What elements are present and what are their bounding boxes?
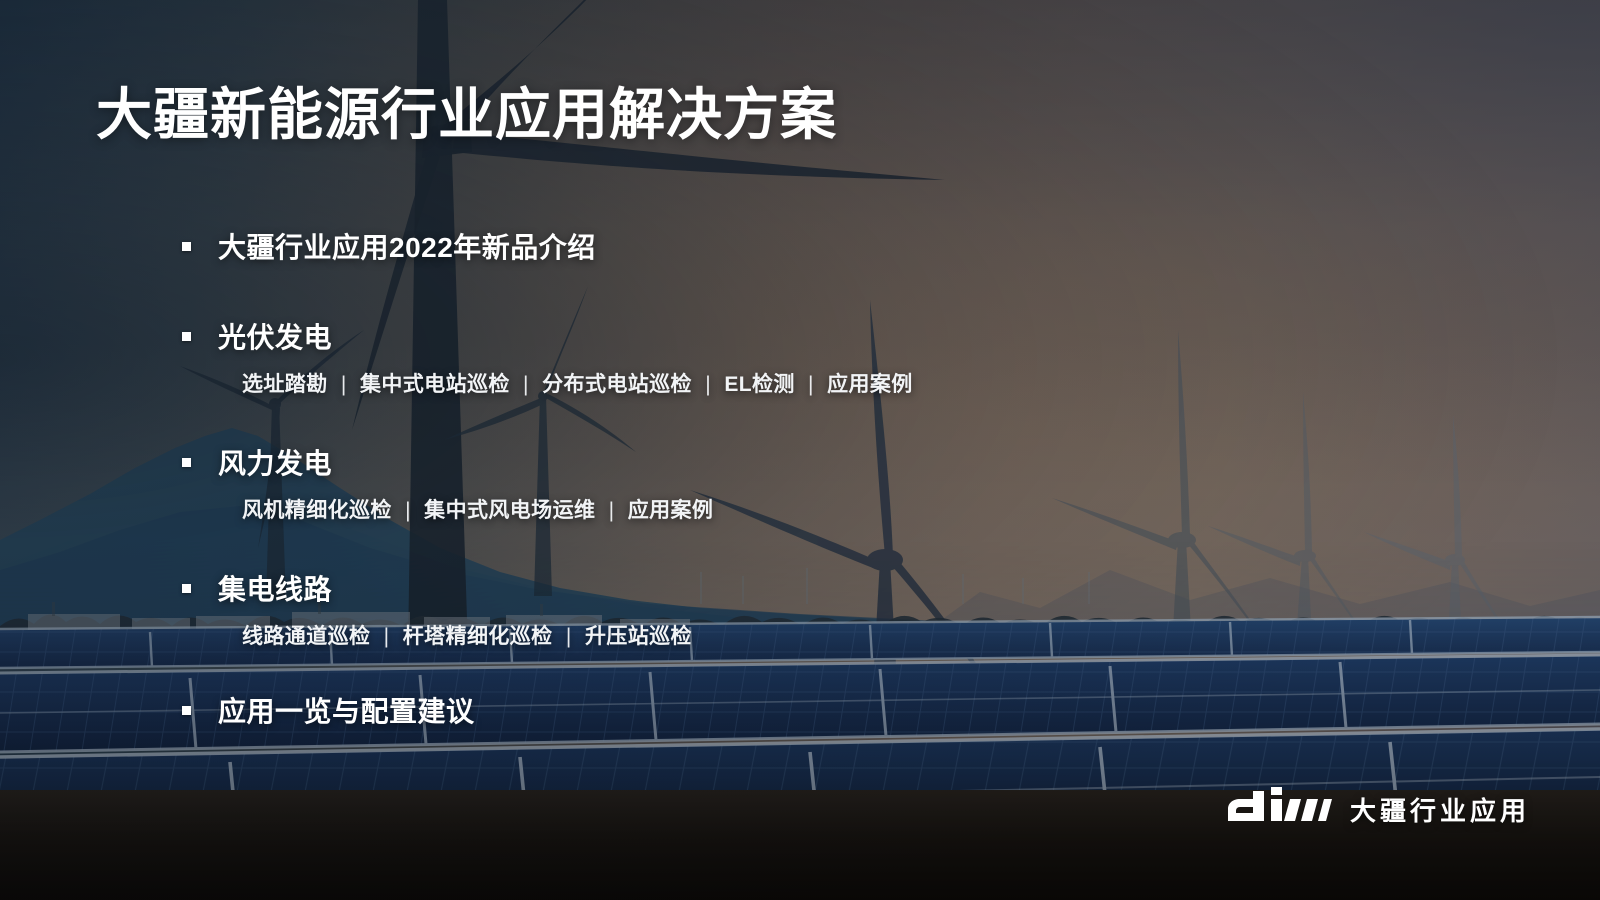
subitem[interactable]: 分布式电站巡检 xyxy=(542,373,692,396)
separator: | xyxy=(602,499,622,522)
brand-logo-text: 大疆行业应用 xyxy=(1350,791,1530,828)
bullet-square-icon xyxy=(182,242,191,251)
slide-content: 大疆新能源行业应用解决方案 大疆行业应用2022年新品介绍 光伏发电 选址踏勘 … xyxy=(0,0,1600,900)
bullet-row: 应用一览与配置建议 xyxy=(182,690,1182,730)
bullet-square-icon xyxy=(182,706,191,715)
subitem[interactable]: EL检测 xyxy=(724,373,794,396)
subitem[interactable]: 升压站巡检 xyxy=(585,625,692,648)
separator: | xyxy=(559,625,579,648)
brand-logo: 大疆行业应用 xyxy=(1224,787,1530,832)
bullet-row: 集电线路 xyxy=(182,568,1182,608)
bullet-square-icon xyxy=(182,584,191,593)
agenda-item-collector-line[interactable]: 集电线路 线路通道巡检 | 杆塔精细化巡检 | 升压站巡检 xyxy=(182,568,1182,650)
subitem[interactable]: 杆塔精细化巡检 xyxy=(403,625,553,648)
agenda-subitems: 风机精细化巡检 | 集中式风电场运维 | 应用案例 xyxy=(242,494,1182,524)
bullet-square-icon xyxy=(182,458,191,467)
separator: | xyxy=(698,373,718,396)
agenda-subitems: 线路通道巡检 | 杆塔精细化巡检 | 升压站巡检 xyxy=(242,620,1182,650)
agenda-item-label: 光伏发电 xyxy=(218,316,332,356)
page-title: 大疆新能源行业应用解决方案 xyxy=(96,84,837,147)
dji-logo-icon xyxy=(1224,787,1332,832)
agenda-item-label: 大疆行业应用2022年新品介绍 xyxy=(218,226,596,266)
bullet-square-icon xyxy=(182,332,191,341)
subitem[interactable]: 选址踏勘 xyxy=(242,373,328,396)
agenda-item-label: 风力发电 xyxy=(218,442,332,482)
spacer xyxy=(182,650,1182,690)
subitem[interactable]: 风机精细化巡检 xyxy=(242,499,392,522)
agenda-item-label: 应用一览与配置建议 xyxy=(218,690,475,730)
bullet-row: 风力发电 xyxy=(182,442,1182,482)
spacer xyxy=(182,398,1182,442)
agenda-list: 大疆行业应用2022年新品介绍 光伏发电 选址踏勘 | 集中式电站巡检 | 分布… xyxy=(182,226,1182,730)
agenda-item-wind-power[interactable]: 风力发电 风机精细化巡检 | 集中式风电场运维 | 应用案例 xyxy=(182,442,1182,524)
subitem[interactable]: 应用案例 xyxy=(827,373,913,396)
subitem[interactable]: 应用案例 xyxy=(628,499,714,522)
agenda-item-label: 集电线路 xyxy=(218,568,332,608)
agenda-item-new-products[interactable]: 大疆行业应用2022年新品介绍 xyxy=(182,226,1182,266)
bullet-row: 大疆行业应用2022年新品介绍 xyxy=(182,226,1182,266)
agenda-item-overview-config[interactable]: 应用一览与配置建议 xyxy=(182,690,1182,730)
subitem[interactable]: 线路通道巡检 xyxy=(242,625,370,648)
spacer xyxy=(182,524,1182,568)
separator: | xyxy=(377,625,397,648)
spacer xyxy=(182,266,1182,316)
separator: | xyxy=(398,499,418,522)
subitem[interactable]: 集中式电站巡检 xyxy=(360,373,510,396)
separator: | xyxy=(801,373,821,396)
agenda-subitems: 选址踏勘 | 集中式电站巡检 | 分布式电站巡检 | EL检测 | 应用案例 xyxy=(242,368,1182,398)
bullet-row: 光伏发电 xyxy=(182,316,1182,356)
presentation-slide: 大疆新能源行业应用解决方案 大疆行业应用2022年新品介绍 光伏发电 选址踏勘 … xyxy=(0,0,1600,900)
subitem[interactable]: 集中式风电场运维 xyxy=(424,499,595,522)
separator: | xyxy=(334,373,354,396)
agenda-item-photovoltaic[interactable]: 光伏发电 选址踏勘 | 集中式电站巡检 | 分布式电站巡检 | EL检测 | 应… xyxy=(182,316,1182,398)
separator: | xyxy=(516,373,536,396)
